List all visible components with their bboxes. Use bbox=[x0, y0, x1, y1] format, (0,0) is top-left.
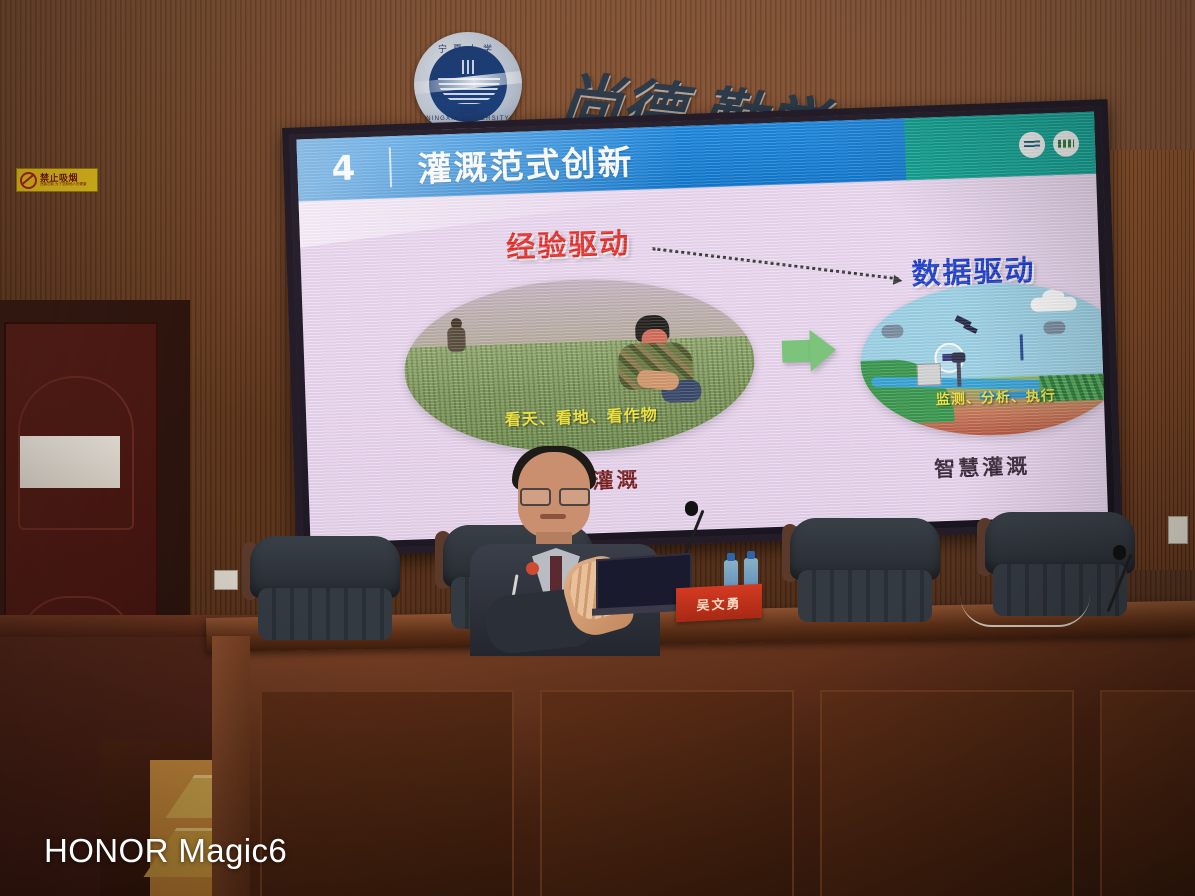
rain-cloud-icon bbox=[881, 324, 903, 338]
no-smoking-icon bbox=[20, 172, 37, 189]
university-logo-bars-icon bbox=[462, 60, 474, 74]
slide-left-label: 经验驱动 bbox=[505, 220, 630, 266]
slide-surface: 4 灌溉范式创新 经验驱动 数据驱动 bbox=[296, 112, 1108, 544]
slide-header-logos bbox=[904, 112, 1096, 181]
slide-illustration-smart-irrigation: 监测、分析、执行 bbox=[858, 279, 1108, 440]
right-subcaption: 智慧灌溉 bbox=[934, 450, 1031, 483]
desk-panel bbox=[540, 690, 794, 896]
wheat-texture bbox=[404, 336, 758, 458]
sensor-tower-icon bbox=[957, 360, 962, 386]
microphone-capsule-icon bbox=[1113, 545, 1126, 560]
desk-panel bbox=[260, 690, 514, 896]
speaker-person bbox=[470, 452, 660, 652]
wall-switch bbox=[1168, 516, 1188, 544]
chair-seat bbox=[258, 588, 392, 640]
name-placard: 吴文勇 bbox=[676, 584, 762, 623]
distant-person-body bbox=[447, 327, 466, 353]
no-smoking-sign: 禁止吸烟 违者罚款 为了您和他人的健康 bbox=[16, 168, 98, 192]
desk-panel bbox=[820, 690, 1074, 896]
chair-seat bbox=[798, 570, 932, 622]
desk-panel bbox=[1100, 690, 1195, 896]
led-presentation-screen: 4 灌溉范式创新 经验驱动 数据驱动 bbox=[282, 99, 1123, 558]
arrow-head bbox=[809, 329, 836, 372]
lavalier-microphone-icon bbox=[526, 562, 539, 575]
no-smoking-sub-label: 违者罚款 为了您和他人的健康 bbox=[40, 183, 86, 187]
speaker-mouth bbox=[540, 514, 566, 519]
photo-scene: 宁夏大学 1958 NINGXIA UNIVERSITY 尚德 勤学 求是 创新… bbox=[0, 0, 1195, 896]
partner-logo-icon bbox=[1053, 130, 1080, 157]
microphone-cable bbox=[960, 595, 1090, 627]
wall-outlet bbox=[214, 570, 238, 590]
farmer-figure bbox=[611, 314, 700, 403]
institute-logo-icon bbox=[1019, 131, 1046, 158]
monitoring-station-icon bbox=[917, 363, 942, 386]
camera-watermark: HONOR Magic6 bbox=[44, 832, 287, 870]
photo-wheat-field bbox=[404, 336, 758, 458]
name-placard-text: 吴文勇 bbox=[696, 592, 741, 613]
eyeglasses-icon bbox=[520, 488, 590, 503]
rain-cloud-icon bbox=[1043, 321, 1065, 335]
university-founded-year: 1958 bbox=[414, 106, 522, 115]
microphone-capsule-icon bbox=[685, 501, 698, 516]
door[interactable] bbox=[4, 322, 158, 664]
distant-person bbox=[447, 318, 466, 353]
arrow-shaft bbox=[782, 340, 813, 363]
slide-photo-traditional-irrigation: 看天、看地、看作物 bbox=[402, 274, 758, 458]
door-window bbox=[20, 436, 120, 488]
